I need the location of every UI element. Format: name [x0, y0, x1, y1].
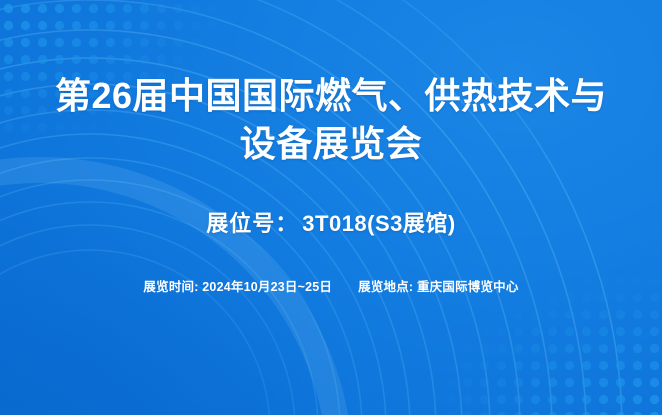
- booth-number: 展位号：3T018(S3展馆): [206, 206, 455, 238]
- date-label: 展览时间:: [143, 276, 198, 295]
- banner-content: 第26届中国国际燃气、供热技术与 设备展览会 展位号：3T018(S3展馆) 展…: [0, 0, 662, 415]
- venue-value: 重庆国际博览中心: [417, 276, 519, 295]
- venue-label: 展览地点:: [358, 276, 413, 295]
- exhibition-banner: 第26届中国国际燃气、供热技术与 设备展览会 展位号：3T018(S3展馆) 展…: [0, 0, 662, 415]
- booth-value: 3T018(S3展馆): [302, 211, 455, 236]
- booth-label: 展位号：: [206, 211, 298, 236]
- title-line-2: 设备展览会: [21, 120, 641, 168]
- date-value: 2024年10月23日~25日: [202, 276, 332, 295]
- title-line-1: 第26届中国国际燃气、供热技术与: [21, 72, 641, 120]
- page-title: 第26届中国国际燃气、供热技术与 设备展览会: [21, 72, 641, 168]
- event-meta: 展览时间: 2024年10月23日~25日 展览地点: 重庆国际博览中心: [143, 276, 518, 295]
